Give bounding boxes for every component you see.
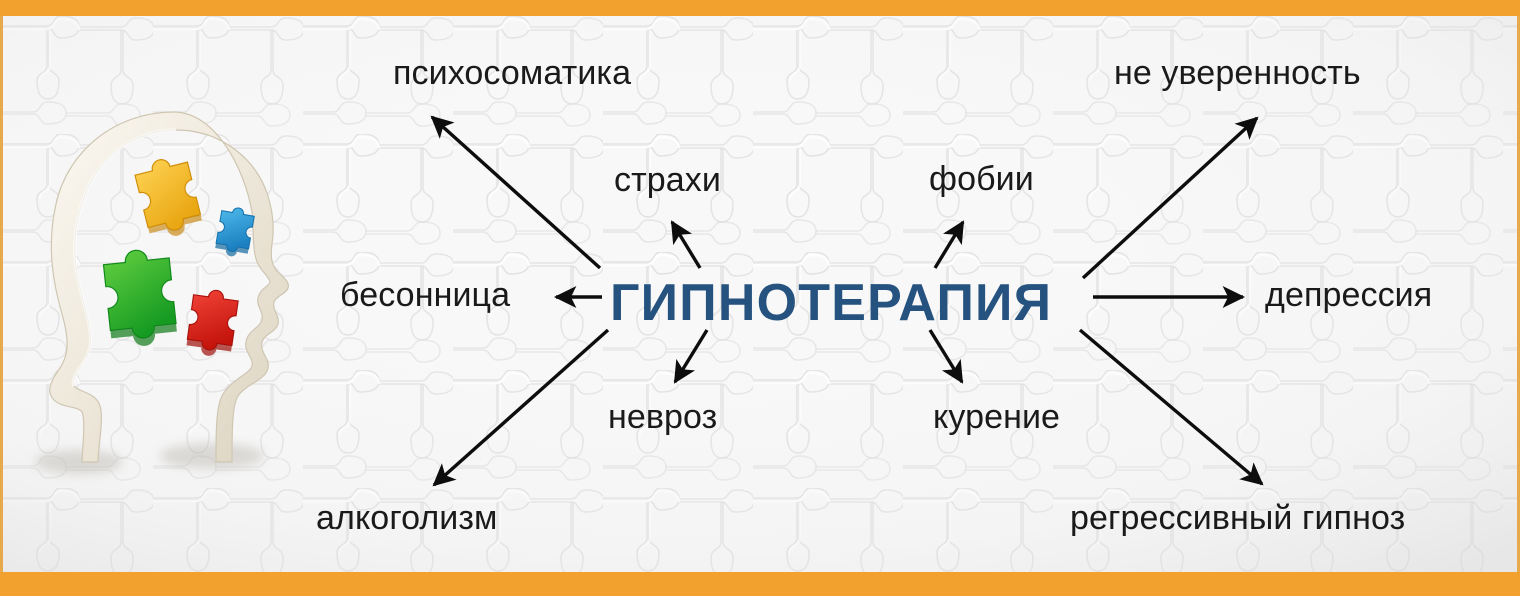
poster-canvas: ГИПНОТЕРАПИЯ психосоматика страхи фобии … <box>0 0 1520 596</box>
puzzle-piece-red <box>185 287 239 359</box>
branch-label-insomnia: бесонница <box>340 278 510 312</box>
head-illustration <box>24 100 344 500</box>
branch-label-phobias: фобии <box>929 162 1034 196</box>
branch-label-insecurity: не уверенность <box>1114 56 1361 90</box>
branch-label-depression: депрессия <box>1265 278 1432 312</box>
left-border-rail <box>0 16 3 572</box>
branch-label-smoking: курение <box>933 400 1060 434</box>
bottom-border-band <box>0 572 1520 596</box>
puzzle-piece-yellow <box>133 153 204 242</box>
head-shadow-left <box>35 450 123 474</box>
branch-label-psychosomatics: психосоматика <box>393 56 631 90</box>
branch-label-neurosis: невроз <box>608 400 717 434</box>
top-border-band <box>0 0 1520 16</box>
center-term: ГИПНОТЕРАПИЯ <box>610 277 1052 329</box>
branch-label-alcoholism: алкоголизм <box>316 501 498 535</box>
puzzle-piece-green <box>102 247 178 349</box>
puzzle-piece-blue <box>214 205 255 259</box>
branch-label-regressive-hypnosis: регрессивный гипноз <box>1070 501 1405 535</box>
head-shadow-right <box>160 443 264 469</box>
head-with-puzzle-pieces-graphic <box>24 100 344 500</box>
branch-label-fears: страхи <box>614 163 721 197</box>
